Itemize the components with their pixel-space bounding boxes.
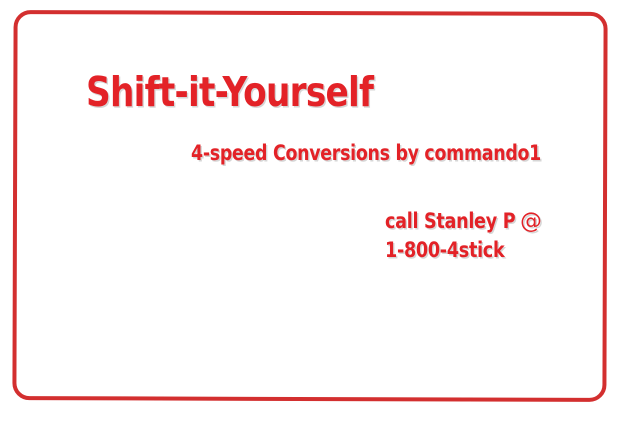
contact-line-call: call Stanley P @ xyxy=(385,207,542,236)
contact-block: call Stanley P @ 1-800-4stick xyxy=(385,207,553,265)
contact-phone-number: 1-800-4stick xyxy=(385,236,542,265)
subtitle: 4-speed Conversions by commando1 xyxy=(191,143,541,164)
contact-call-label: call Stanley P xyxy=(385,209,521,233)
page-title: Shift-it-Yourself xyxy=(86,72,373,113)
at-symbol-icon: @ xyxy=(521,207,543,236)
business-card-advertisement: Shift-it-Yourself 4-speed Conversions by… xyxy=(0,0,629,421)
